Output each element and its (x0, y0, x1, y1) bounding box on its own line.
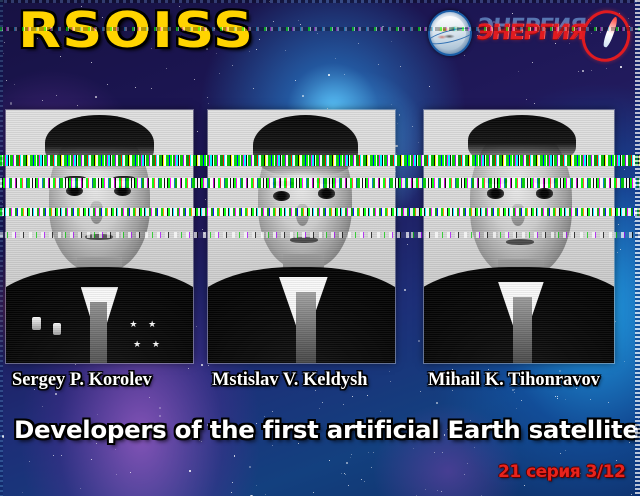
photo-grain (424, 110, 614, 363)
portrait-name-3: Mihail K. Tihonravov (428, 368, 600, 392)
energia-wordmark: ЭНЕРГИЯ (475, 20, 586, 44)
subtitle-caption: Developers of the first artificial Earth… (14, 415, 639, 445)
series-label: 21 серия 3/12 (498, 462, 625, 482)
portrait-name-row: Sergey P. Korolev Mstislav V. Keldysh Mi… (0, 368, 640, 394)
sstv-sync-bar-right (635, 0, 640, 496)
portrait-name-2: Mstislav V. Keldysh (212, 368, 368, 392)
portrait-photo-1: ★ ★ ★ ★ (6, 110, 193, 363)
sstv-frame: RSOISS ЭНЕРГИЯ ЭНЕРГИЯ ★ ★ (0, 0, 640, 496)
iss-roundel-icon (428, 10, 472, 56)
portrait-photo-3 (424, 110, 614, 363)
page-title: RSOISS (18, 4, 254, 58)
sstv-sync-bar-top (0, 0, 640, 3)
portrait-image-korolev: ★ ★ ★ ★ (6, 110, 193, 363)
sstv-sync-bar-left (0, 0, 3, 496)
portrait-name-1: Sergey P. Korolev (12, 368, 152, 392)
portrait-image-keldysh (208, 110, 395, 363)
photo-grain (208, 110, 395, 363)
portrait-image-tihonravov (424, 110, 614, 363)
portrait-photo-2 (208, 110, 395, 363)
photo-grain (6, 110, 193, 363)
energia-logo: ЭНЕРГИЯ ЭНЕРГИЯ (478, 14, 628, 54)
